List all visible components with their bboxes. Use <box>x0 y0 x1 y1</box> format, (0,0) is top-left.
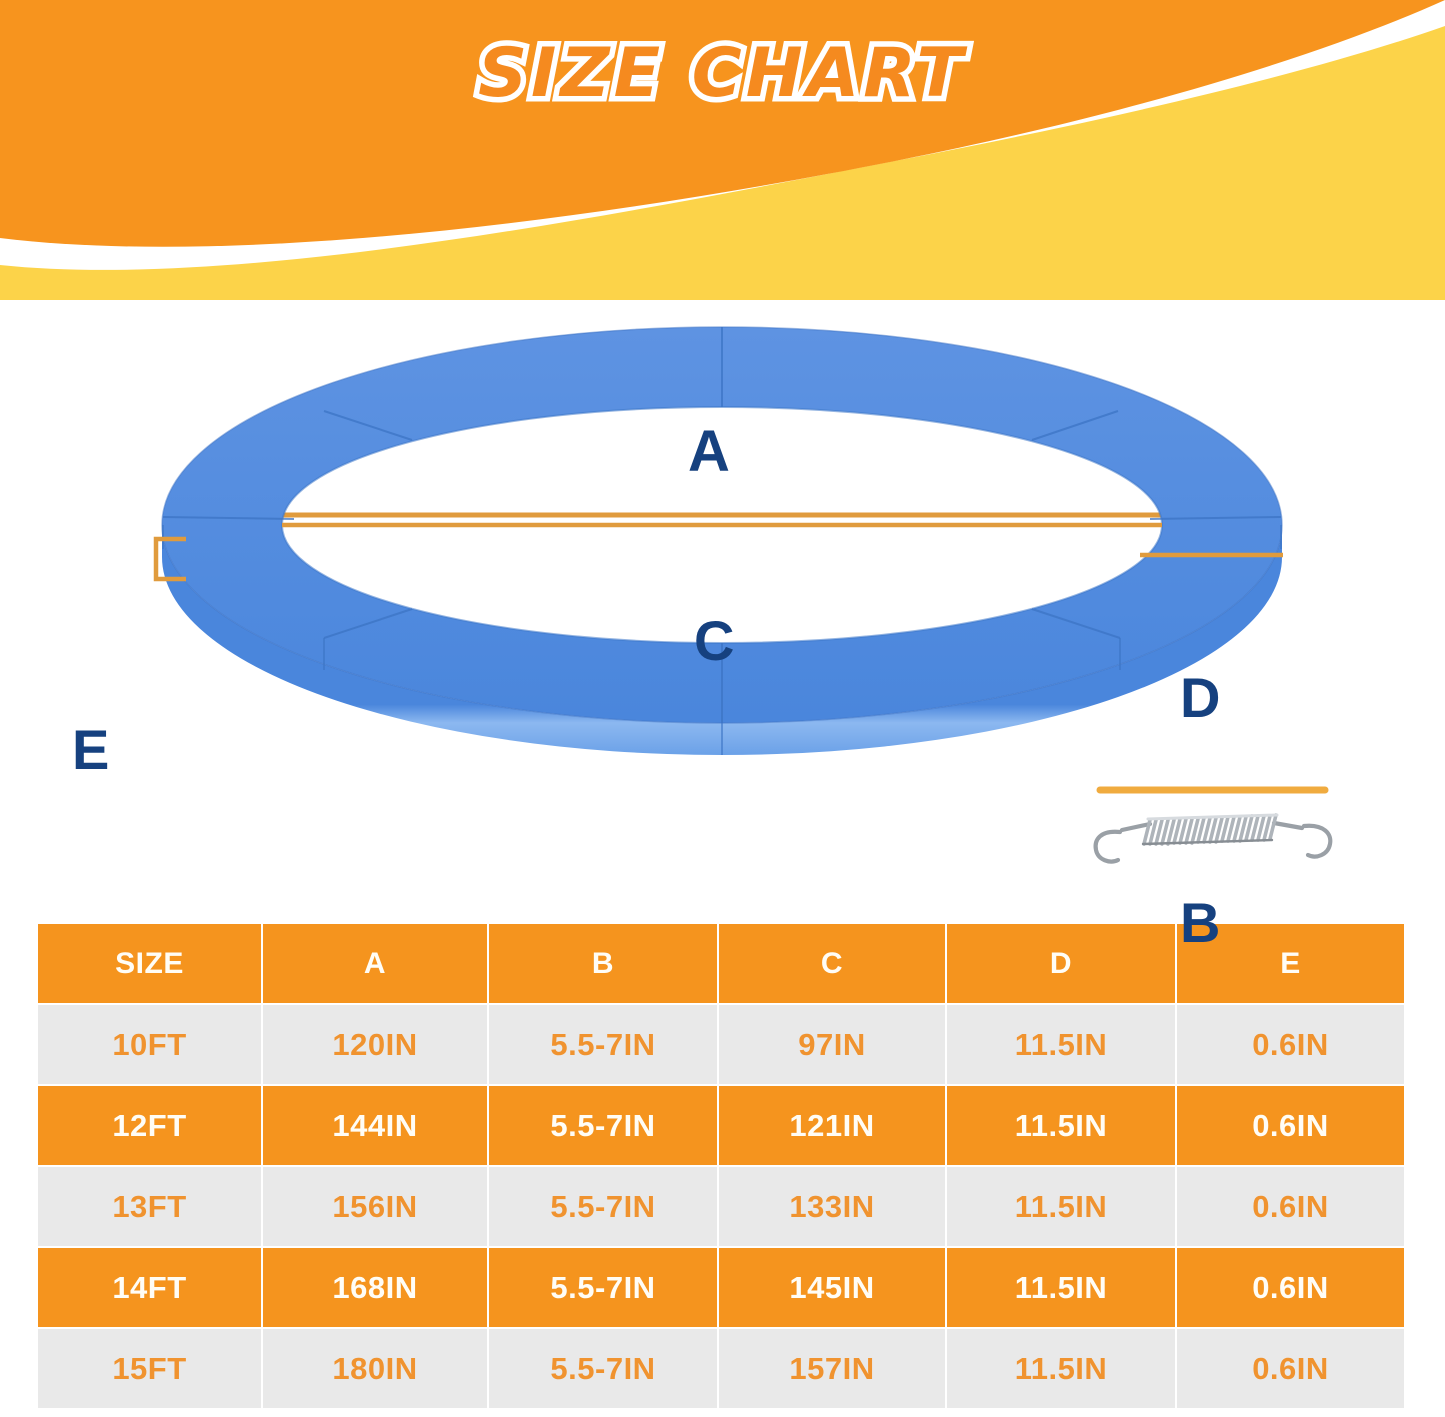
cell-b: 5.5-7IN <box>489 1329 717 1408</box>
dimension-label-e: E <box>72 722 109 778</box>
cell-c: 133IN <box>719 1167 945 1246</box>
cell-c: 97IN <box>719 1005 945 1084</box>
table-row: 14FT 168IN 5.5-7IN 145IN 11.5IN 0.6IN <box>38 1248 1404 1327</box>
cell-size: 15FT <box>38 1329 261 1408</box>
dimension-label-c: C <box>694 613 734 669</box>
cell-c: 121IN <box>719 1086 945 1165</box>
cell-e: 0.6IN <box>1177 1329 1404 1408</box>
dimension-label-b: B <box>1180 895 1220 951</box>
size-table: SIZE A B C D E 10FT 120IN 5.5-7IN 97IN 1… <box>36 922 1406 1410</box>
table-row: 13FT 156IN 5.5-7IN 133IN 11.5IN 0.6IN <box>38 1167 1404 1246</box>
cell-a: 180IN <box>263 1329 487 1408</box>
cell-size: 13FT <box>38 1167 261 1246</box>
cell-d: 11.5IN <box>947 1086 1175 1165</box>
column-header-size: SIZE <box>38 924 261 1003</box>
cell-size: 12FT <box>38 1086 261 1165</box>
table-row: 10FT 120IN 5.5-7IN 97IN 11.5IN 0.6IN <box>38 1005 1404 1084</box>
cell-size: 10FT <box>38 1005 261 1084</box>
column-header-c: C <box>719 924 945 1003</box>
column-header-d: D <box>947 924 1175 1003</box>
page-title: SIZE CHART <box>0 34 1445 113</box>
column-header-b: B <box>489 924 717 1003</box>
cell-a: 156IN <box>263 1167 487 1246</box>
cell-d: 11.5IN <box>947 1329 1175 1408</box>
cell-e: 0.6IN <box>1177 1005 1404 1084</box>
cell-e: 0.6IN <box>1177 1167 1404 1246</box>
table-row: 15FT 180IN 5.5-7IN 157IN 11.5IN 0.6IN <box>38 1329 1404 1408</box>
table-row: 12FT 144IN 5.5-7IN 121IN 11.5IN 0.6IN <box>38 1086 1404 1165</box>
size-chart-page: SIZE CHART <box>0 0 1445 1417</box>
cell-b: 5.5-7IN <box>489 1248 717 1327</box>
dimension-label-d: D <box>1180 670 1220 726</box>
cell-a: 168IN <box>263 1248 487 1327</box>
cell-d: 11.5IN <box>947 1005 1175 1084</box>
cell-c: 157IN <box>719 1329 945 1408</box>
column-header-a: A <box>263 924 487 1003</box>
cell-d: 11.5IN <box>947 1248 1175 1327</box>
cell-size: 14FT <box>38 1248 261 1327</box>
cell-b: 5.5-7IN <box>489 1005 717 1084</box>
cell-a: 120IN <box>263 1005 487 1084</box>
cell-b: 5.5-7IN <box>489 1086 717 1165</box>
dimension-label-a: A <box>688 423 730 481</box>
cell-e: 0.6IN <box>1177 1086 1404 1165</box>
spring-illustration <box>1096 815 1331 862</box>
product-diagram: A C D E B <box>0 195 1445 895</box>
cell-e: 0.6IN <box>1177 1248 1404 1327</box>
cell-b: 5.5-7IN <box>489 1167 717 1246</box>
cell-d: 11.5IN <box>947 1167 1175 1246</box>
cell-a: 144IN <box>263 1086 487 1165</box>
cell-c: 145IN <box>719 1248 945 1327</box>
